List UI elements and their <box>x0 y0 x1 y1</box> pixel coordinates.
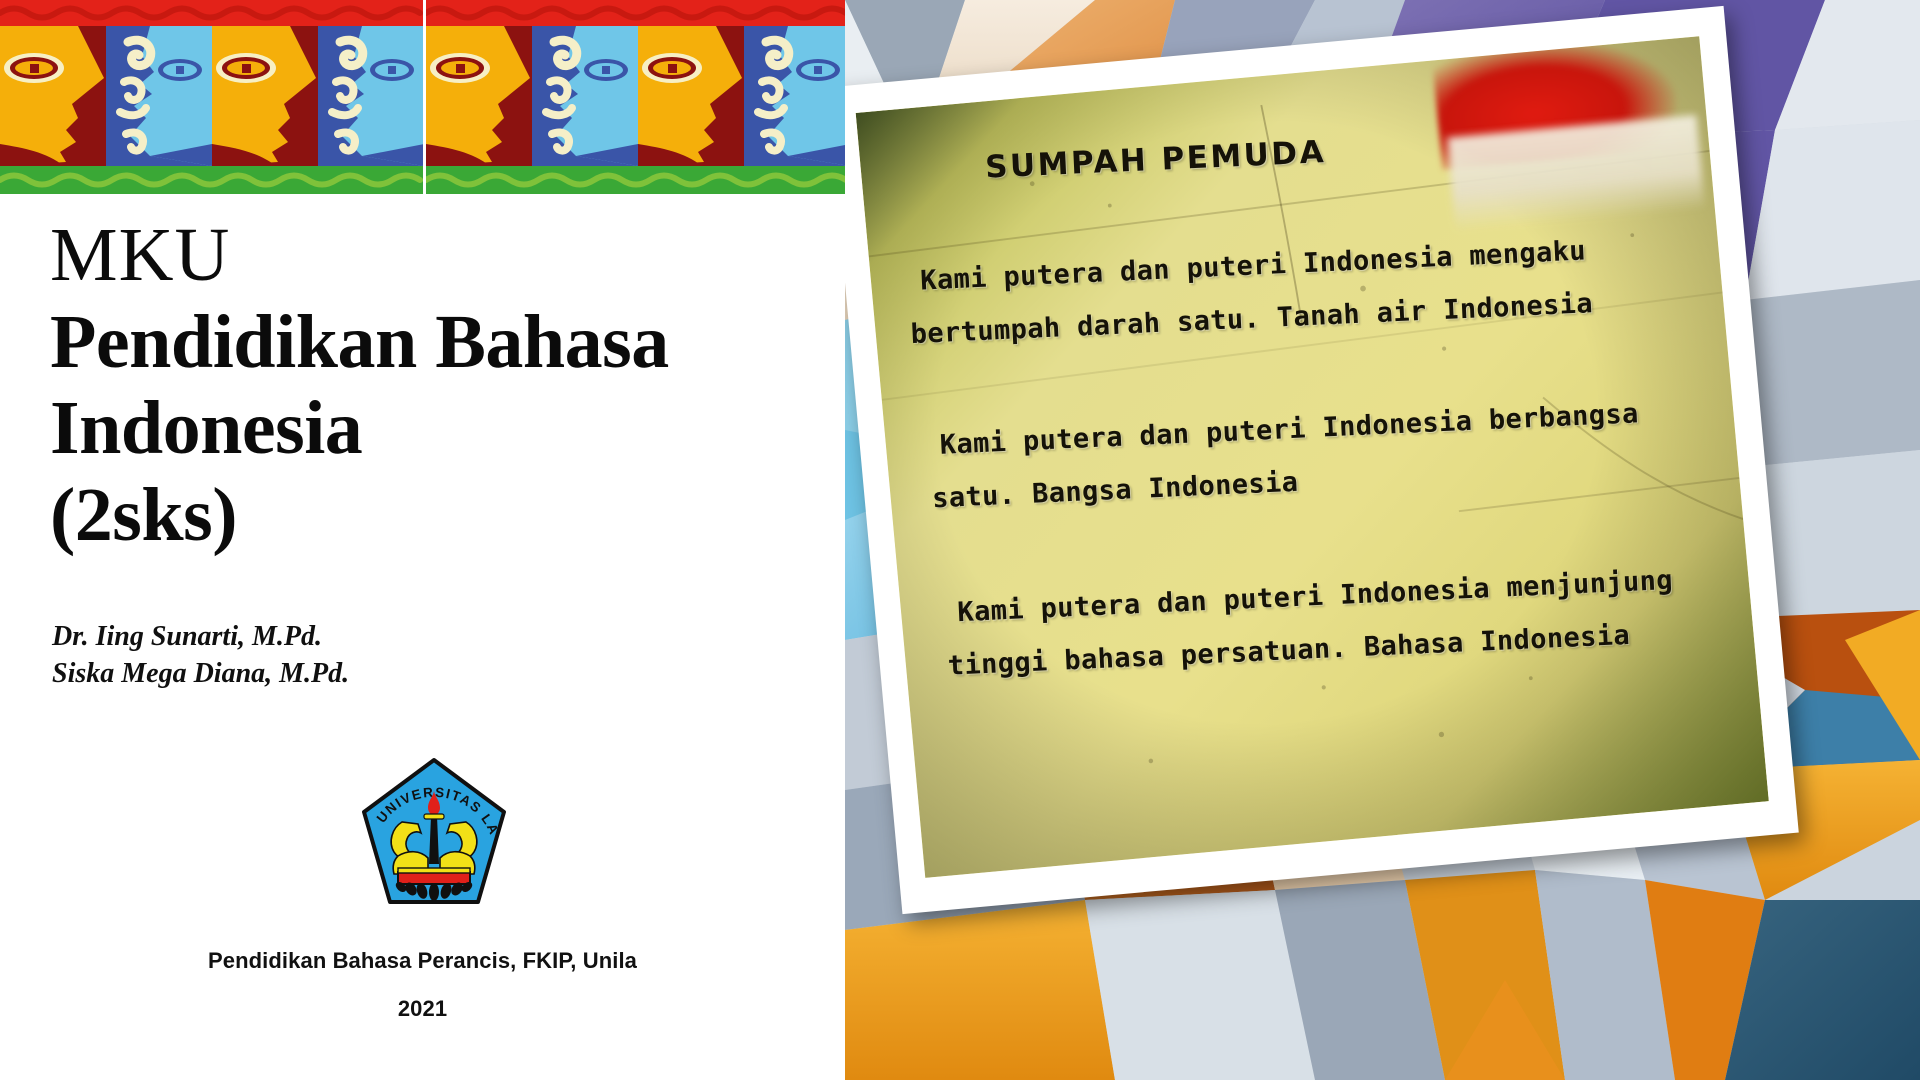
oath-text-layer: SUMPAH PEMUDA Kami putera dan puteri Ind… <box>872 54 1753 860</box>
faces-border-segment-right <box>426 0 845 218</box>
oath-stanza-2-line-2: satu. Bangsa Indonesia <box>932 467 1299 515</box>
footer-year: 2021 <box>0 998 845 1020</box>
photo-frame: SUMPAH PEMUDA Kami putera dan puteri Ind… <box>845 6 1799 914</box>
footer-institution: Pendidikan Bahasa Perancis, FKIP, Unila <box>0 950 845 972</box>
oath-stanza-2-line-1: Kami putera dan puteri Indonesia berbang… <box>939 398 1639 461</box>
title-line-2: Pendidikan Bahasa <box>50 299 830 386</box>
title-line-4: (2sks) <box>50 472 830 559</box>
slide-canvas: SUMPAH PEMUDA Kami putera dan puteri Ind… <box>0 0 1920 1080</box>
universitas-lampung-logo: UNIVERSITAS LAMPUNG <box>358 756 510 916</box>
photo-image: SUMPAH PEMUDA Kami putera dan puteri Ind… <box>856 36 1769 878</box>
oath-stanza-1-line-2: bertumpah darah satu. Tanah air Indonesi… <box>910 288 1594 350</box>
faces-pattern-border <box>0 0 845 218</box>
title-line-3: Indonesia <box>50 385 830 472</box>
faces-border-segment-left <box>0 0 423 218</box>
border-seam-divider <box>423 0 426 218</box>
footer-block: Pendidikan Bahasa Perancis, FKIP, Unila … <box>0 950 845 1020</box>
left-content-panel: MKU Pendidikan Bahasa Indonesia (2sks) D… <box>0 0 845 1080</box>
oath-stanza-3-line-1: Kami putera dan puteri Indonesia menjunj… <box>957 565 1674 628</box>
oath-stanza-3-line-2: tinggi bahasa persatuan. Bahasa Indonesi… <box>947 620 1631 682</box>
right-background-panel: SUMPAH PEMUDA Kami putera dan puteri Ind… <box>845 0 1920 1080</box>
author-name-2: Siska Mega Diana, M.Pd. <box>52 655 752 692</box>
oath-stanza-1-line-1: Kami putera dan puteri Indonesia mengaku <box>920 235 1587 296</box>
author-list: Dr. Iing Sunarti, M.Pd. Siska Mega Diana… <box>52 618 752 692</box>
page-title: MKU Pendidikan Bahasa Indonesia (2sks) <box>50 212 830 559</box>
title-line-1: MKU <box>50 212 830 299</box>
oath-title: SUMPAH PEMUDA <box>984 134 1326 185</box>
author-name-1: Dr. Iing Sunarti, M.Pd. <box>52 618 752 655</box>
